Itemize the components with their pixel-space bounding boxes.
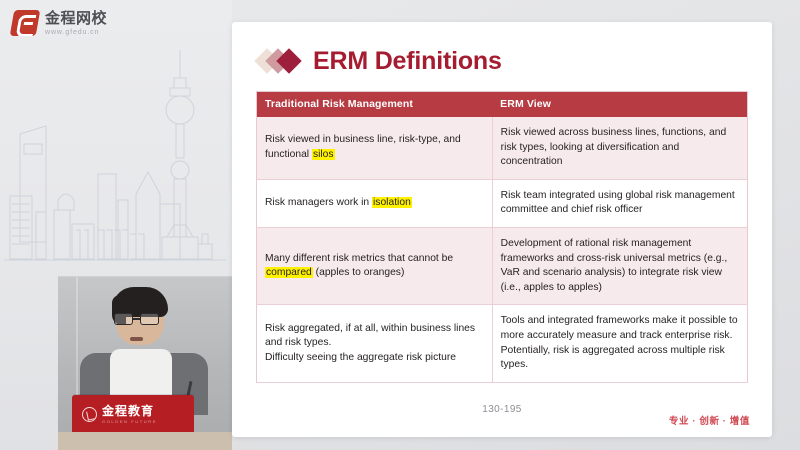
podium-name-cn: 金程教育 <box>102 405 157 417</box>
cell-traditional: Risk managers work in isolation <box>257 179 493 227</box>
brand-logo: 金程网校 www.gfedu.cn <box>12 10 107 36</box>
presenter-shirt <box>110 349 172 397</box>
table-header-row: Traditional Risk Management ERM View <box>257 92 748 118</box>
highlighted-term: compared <box>265 267 313 278</box>
podium-banner: 金程教育 GOLDEN FUTURE <box>72 395 194 435</box>
shanghai-skyline-watermark-icon <box>2 48 232 298</box>
gfedu-seal-icon <box>82 407 97 422</box>
brand-url: www.gfedu.cn <box>45 29 107 36</box>
erm-definitions-table: Traditional Risk Management ERM View Ris… <box>256 91 748 383</box>
cell-erm-view: Risk team integrated using global risk m… <box>492 179 747 227</box>
highlighted-term: silos <box>312 149 335 160</box>
presenter-mouth <box>130 337 143 341</box>
column-header-erm: ERM View <box>492 92 747 118</box>
column-header-traditional: Traditional Risk Management <box>257 92 493 118</box>
highlighted-term: isolation <box>372 197 412 208</box>
slide-title-row: ERM Definitions <box>256 22 748 74</box>
table-body: Risk viewed in business line, risk-type,… <box>257 117 748 382</box>
table-row: Risk viewed in business line, risk-type,… <box>257 117 748 179</box>
cell-erm-view: Risk viewed across business lines, funct… <box>492 117 747 179</box>
gfedu-g-logo-icon <box>10 10 41 36</box>
brand-text: 金程网校 www.gfedu.cn <box>45 11 107 36</box>
podium-logo: 金程教育 GOLDEN FUTURE <box>82 405 157 424</box>
screen-root: 金程网校 www.gfedu.cn 金程教育 GOLDEN FUTURE <box>0 0 800 450</box>
cell-traditional: Risk aggregated, if at all, within busin… <box>257 305 493 382</box>
presenter-video[interactable]: 金程教育 GOLDEN FUTURE <box>58 276 232 450</box>
desk-surface <box>58 432 232 450</box>
cell-erm-view: Development of rational risk management … <box>492 228 747 305</box>
brand-name: 金程网校 <box>45 11 107 26</box>
podium-name-en: GOLDEN FUTURE <box>102 419 157 424</box>
table-row: Many different risk metrics that cannot … <box>257 228 748 305</box>
page-title: ERM Definitions <box>313 49 502 74</box>
cell-traditional: Risk viewed in business line, risk-type,… <box>257 117 493 179</box>
slogan: 专业 · 创新 · 增值 <box>669 413 750 427</box>
slide-canvas: ERM Definitions Traditional Risk Managem… <box>232 22 772 437</box>
podium-text: 金程教育 GOLDEN FUTURE <box>102 405 157 424</box>
cell-traditional: Many different risk metrics that cannot … <box>257 228 493 305</box>
cell-erm-view: Tools and integrated frameworks make it … <box>492 305 747 382</box>
glasses-icon <box>114 313 164 325</box>
table-row: Risk managers work in isolationRisk team… <box>257 179 748 227</box>
three-diamonds-icon <box>258 48 304 74</box>
table-row: Risk aggregated, if at all, within busin… <box>257 305 748 382</box>
